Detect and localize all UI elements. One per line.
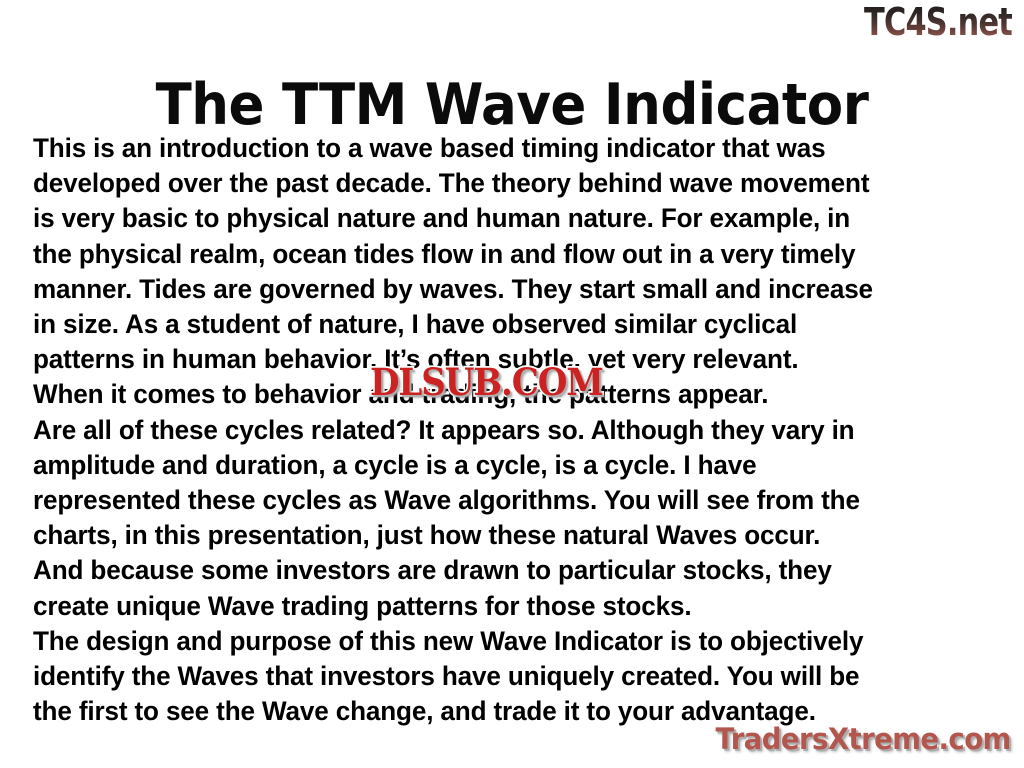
body-line: is very basic to physical nature and hum… <box>33 201 986 236</box>
body-line: The design and purpose of this new Wave … <box>33 624 986 659</box>
body-line: charts, in this presentation, just how t… <box>33 518 986 553</box>
body-line: in size. As a student of nature, I have … <box>33 307 986 342</box>
body-line: represented these cycles as Wave algorit… <box>33 483 986 518</box>
slide-canvas: TC4S.net The TTM Wave Indicator This is … <box>0 0 1024 768</box>
paragraph-2: The design and purpose of this new Wave … <box>33 624 986 730</box>
body-line: identify the Waves that investors have u… <box>33 659 986 694</box>
body-line: amplitude and duration, a cycle is a cyc… <box>33 448 986 483</box>
body-line: Are all of these cycles related? It appe… <box>33 413 986 448</box>
body-line: manner. Tides are governed by waves. The… <box>33 272 986 307</box>
body-line: developed over the past decade. The theo… <box>33 166 986 201</box>
page-title: The TTM Wave Indicator <box>36 74 988 136</box>
tradersxtreme-footer-logo: TradersXtreme.com <box>716 722 1011 756</box>
tc4s-brand-logo: TC4S.net <box>864 2 1012 42</box>
body-line: create unique Wave trading patterns for … <box>33 589 986 624</box>
body-line: This is an introduction to a wave based … <box>33 131 986 166</box>
body-line: And because some investors are drawn to … <box>33 553 986 588</box>
body-line: the physical realm, ocean tides flow in … <box>33 237 986 272</box>
dlsub-watermark: DLSUB.COM <box>370 360 603 404</box>
body-copy: This is an introduction to a wave based … <box>33 131 986 729</box>
